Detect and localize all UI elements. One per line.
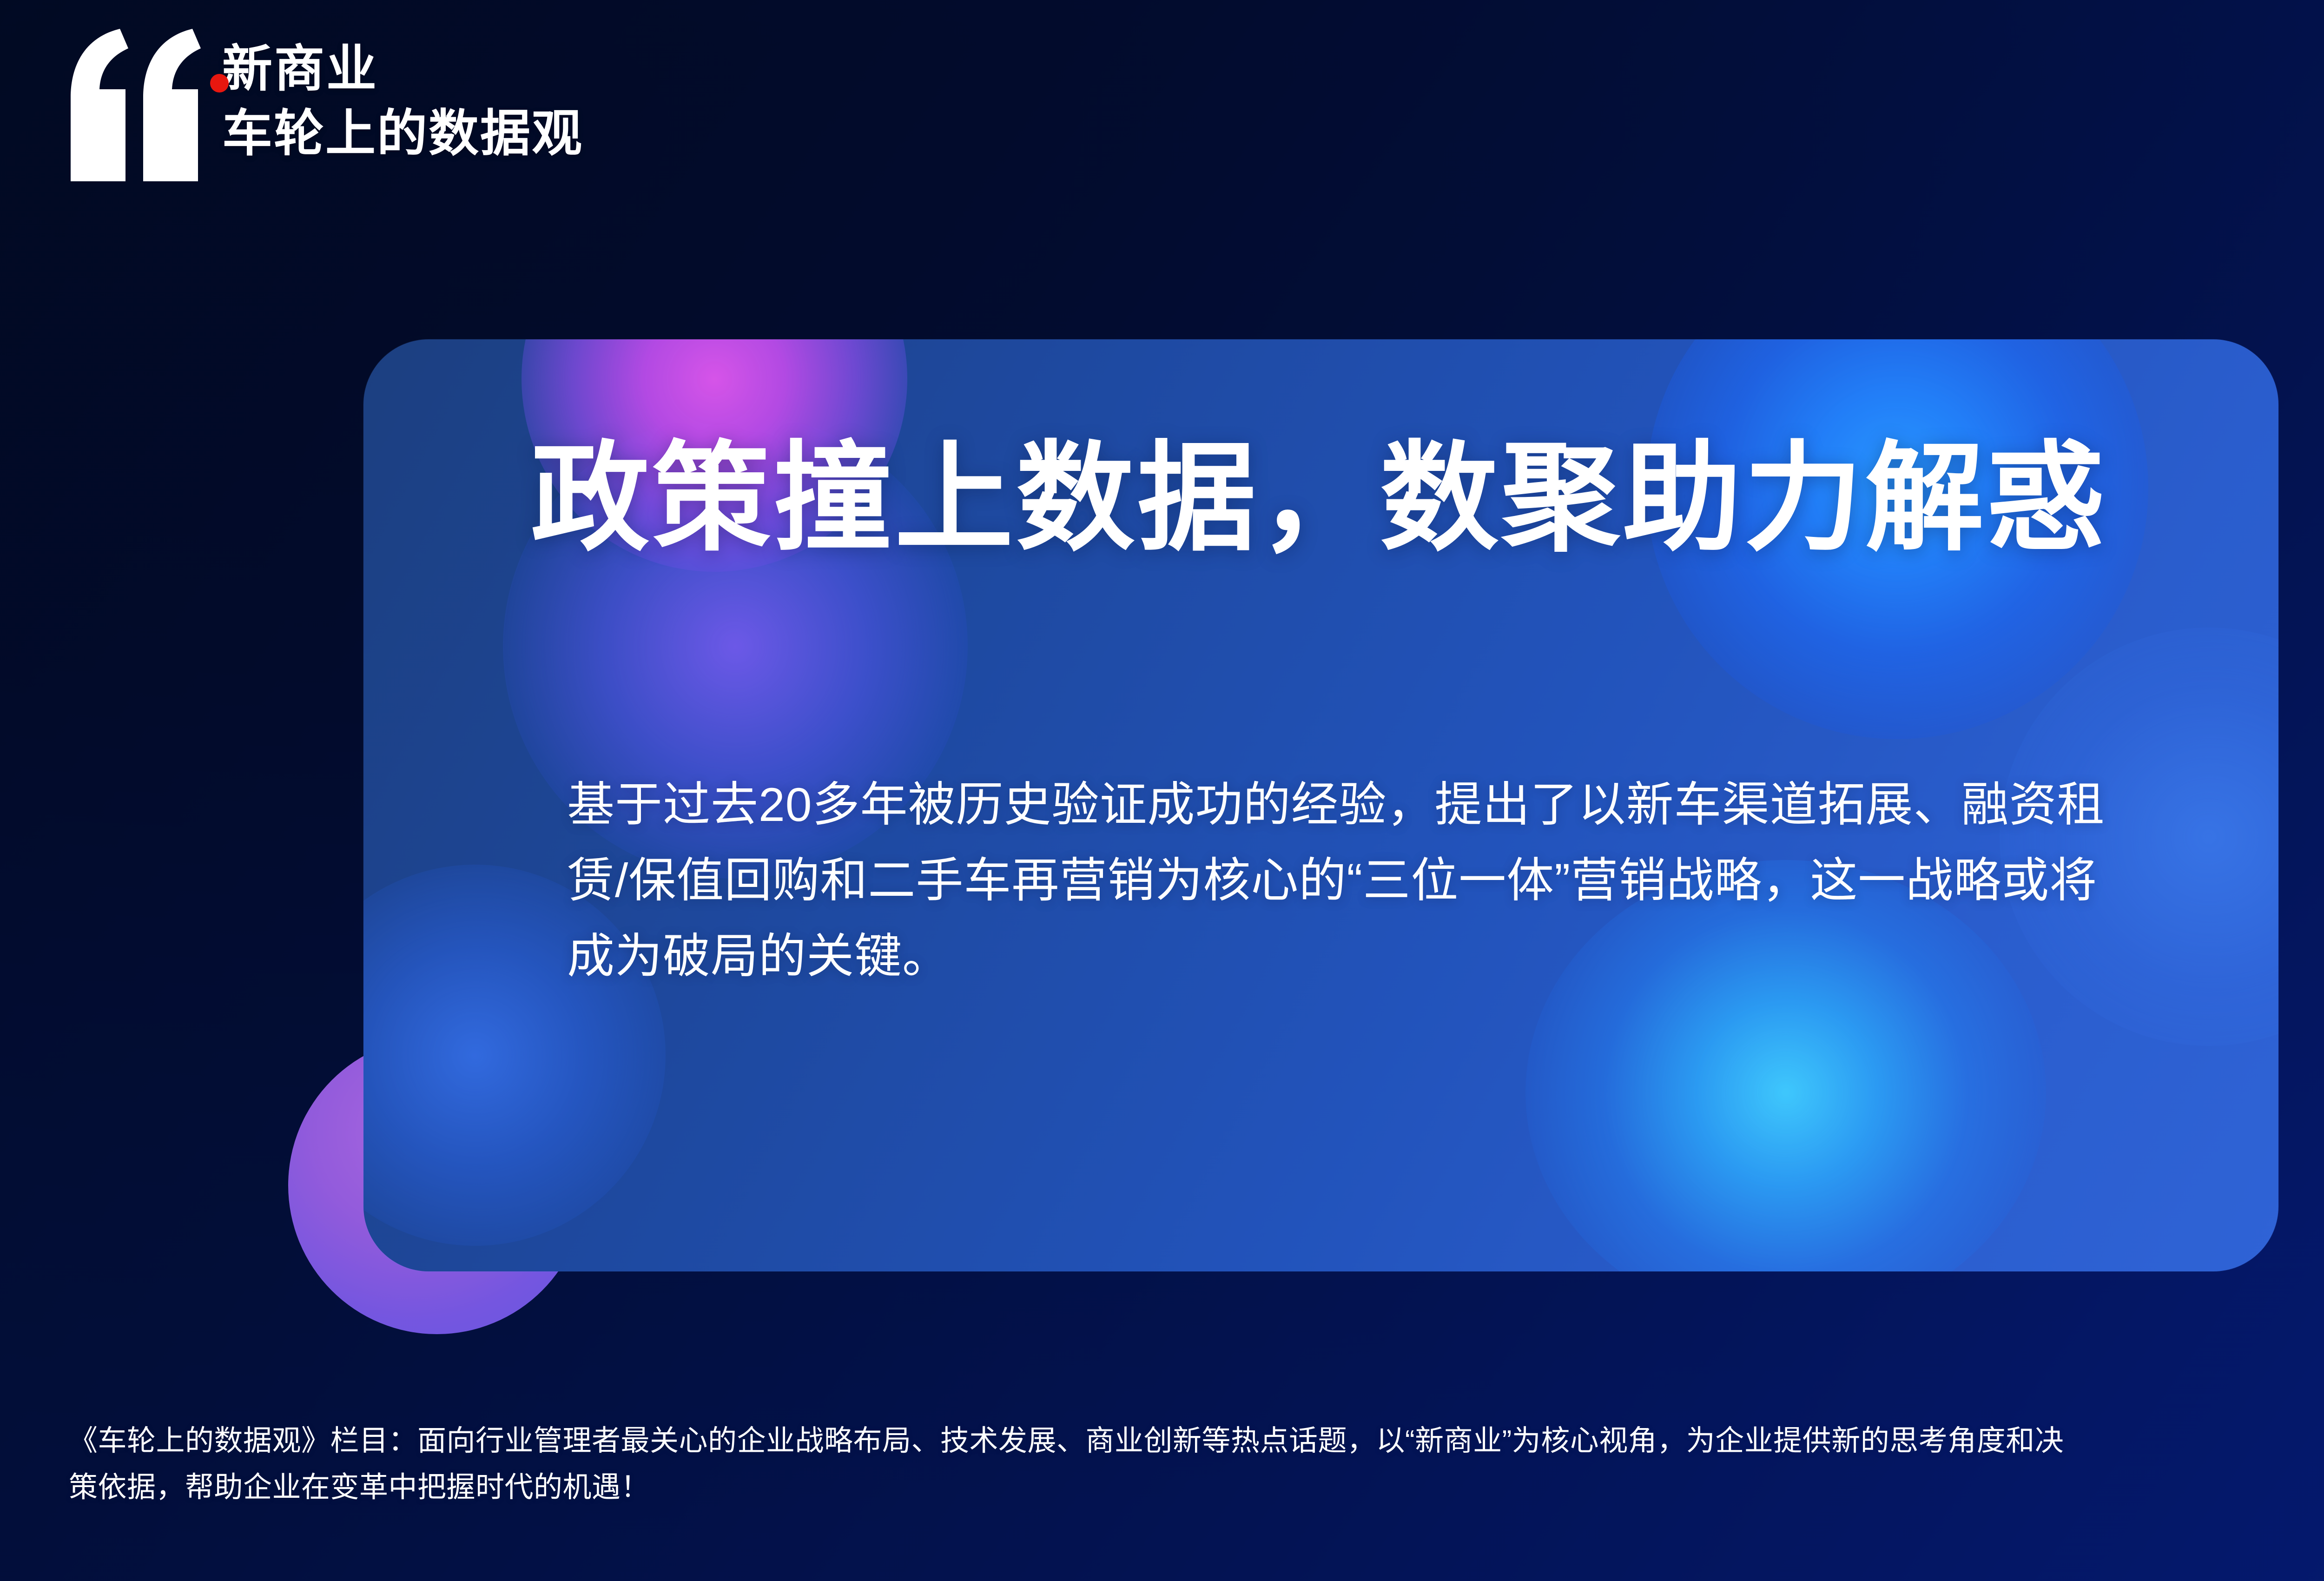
brand-logo-text: 新商业 车轮上的数据观 (222, 28, 583, 163)
body-paragraph: 基于过去20多年被历史验证成功的经验，提出了以新车渠道拓展、融资租赁/保值回购和… (567, 767, 2110, 995)
brand-logo: 新商业 车轮上的数据观 (65, 28, 583, 181)
brand-name-primary: 新商业 (222, 41, 378, 97)
footer-description: 《车轮上的数据观》栏目：面向行业管理者最关心的企业战略布局、技术发展、商业创新等… (69, 1418, 2324, 1511)
brand-name-primary-text: 新商业 (222, 40, 378, 97)
card-content: 政策撞上数据，数聚助力解惑 基于过去20多年被历史验证成功的经验，提出了以新车渠… (363, 339, 2278, 1271)
red-accent-dot-icon (210, 74, 229, 93)
feature-card: 政策撞上数据，数聚助力解惑 基于过去20多年被历史验证成功的经验，提出了以新车渠… (363, 339, 2278, 1271)
quotation-mark-icon (65, 28, 205, 181)
brand-name-secondary: 车轮上的数据观 (222, 104, 583, 163)
footer-line-2: 策依据，帮助企业在变革中把握时代的机遇！ (69, 1464, 2324, 1511)
footer-line-1: 《车轮上的数据观》栏目：面向行业管理者最关心的企业战略布局、技术发展、商业创新等… (69, 1418, 2324, 1464)
headline-title: 政策撞上数据，数聚助力解惑 (531, 439, 2108, 558)
